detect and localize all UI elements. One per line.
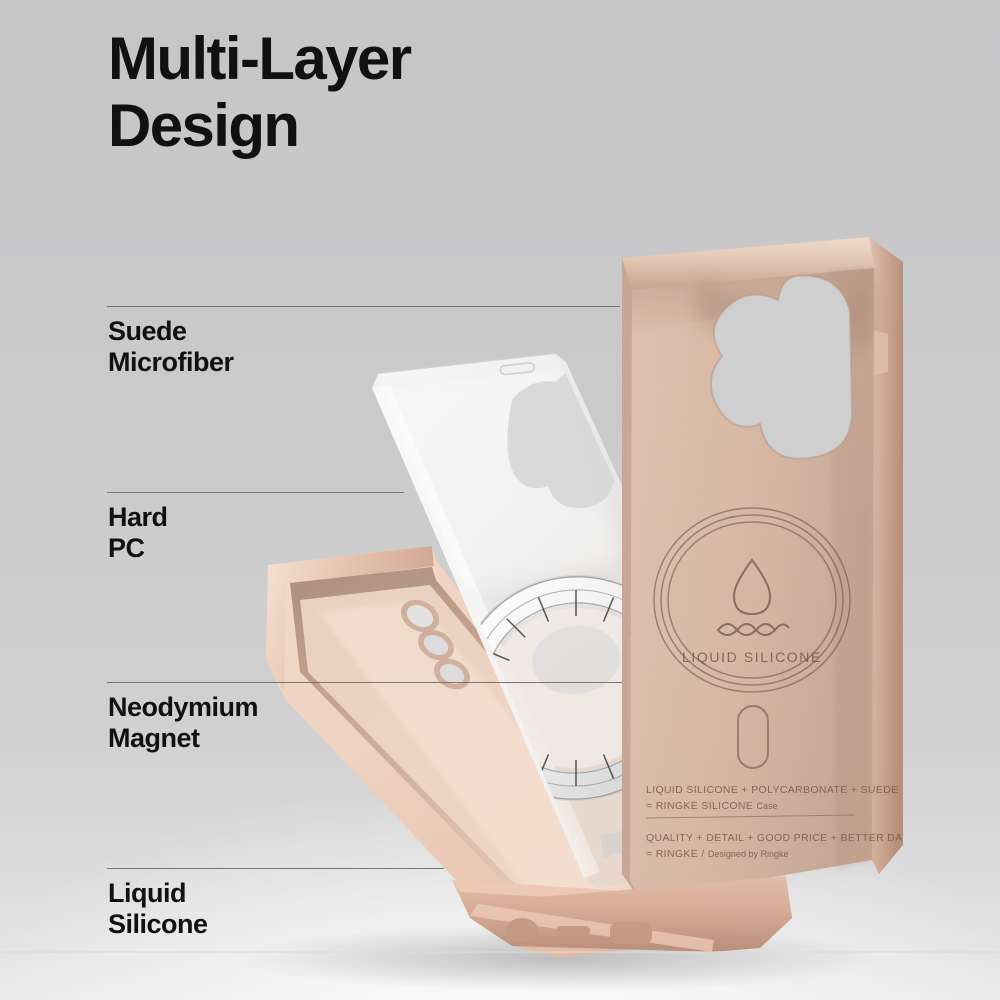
page-title: Multi-Layer Design <box>108 26 728 159</box>
callout-line <box>107 306 620 307</box>
callout-line <box>107 492 404 493</box>
infographic-canvas: LIQUID SILICONE LIQUID SILICONE + POLYCA… <box>0 0 1000 1000</box>
callout-label: Hard PC <box>108 502 168 565</box>
callout-line <box>107 868 444 869</box>
side-button-bump <box>874 330 888 376</box>
callout-label: Neodymium Magnet <box>108 692 258 755</box>
svg-text:LIQUID SILICONE + POLYCARBONAT: LIQUID SILICONE + POLYCARBONATE + SUEDE <box>646 784 899 796</box>
callout-line <box>107 682 622 683</box>
emblem-label: LIQUID SILICONE <box>682 649 822 665</box>
svg-text:QUALITY + DETAIL + GOOD PRICE: QUALITY + DETAIL + GOOD PRICE + BETTER D… <box>646 832 909 844</box>
callout-label: Suede Microfiber <box>108 316 234 379</box>
svg-text:= RINGKE / Designed by Ringke: = RINGKE / Designed by Ringke <box>646 848 788 860</box>
port-cutout-left <box>506 918 538 942</box>
callout-label: Liquid Silicone <box>108 878 208 941</box>
charging-port-cutout <box>610 922 652 944</box>
speaker-cutout <box>556 926 590 935</box>
svg-text:= RINGKE SILICONE Case: = RINGKE SILICONE Case <box>646 800 777 812</box>
suede-back-panel: LIQUID SILICONE LIQUID SILICONE + POLYCA… <box>600 230 920 910</box>
